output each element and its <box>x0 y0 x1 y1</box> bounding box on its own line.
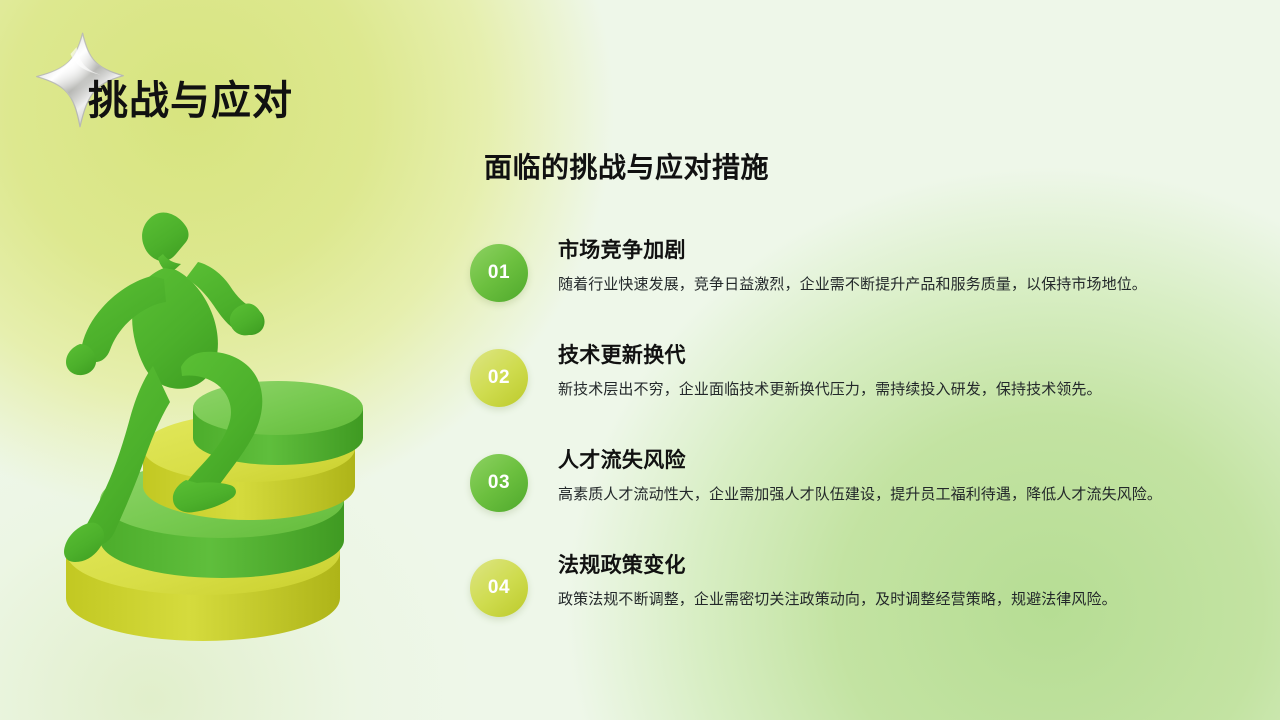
slide-header: 挑战与应对 <box>0 22 520 118</box>
item-number-badge: 03 <box>470 454 528 512</box>
item-title: 法规政策变化 <box>558 549 1117 579</box>
item-description: 新技术层出不穷，企业面临技术更新换代压力，需持续投入研发，保持技术领先。 <box>558 379 1102 401</box>
item-text-block: 法规政策变化 政策法规不断调整，企业需密切关注政策动向，及时调整经营策略，规避法… <box>558 547 1117 611</box>
item-description: 政策法规不断调整，企业需密切关注政策动向，及时调整经营策略，规避法律风险。 <box>558 589 1117 611</box>
list-item: 01 市场竞争加剧 随着行业快速发展，竞争日益激烈，企业需不断提升产品和服务质量… <box>470 232 1250 308</box>
list-item: 04 法规政策变化 政策法规不断调整，企业需密切关注政策动向，及时调整经营策略，… <box>470 547 1250 623</box>
item-title: 市场竞争加剧 <box>558 234 1147 264</box>
challenge-list: 01 市场竞争加剧 随着行业快速发展，竞争日益激烈，企业需不断提升产品和服务质量… <box>470 232 1250 623</box>
list-item: 02 技术更新换代 新技术层出不穷，企业面临技术更新换代压力，需持续投入研发，保… <box>470 337 1250 413</box>
slide-canvas: 挑战与应对 <box>0 0 1280 720</box>
content-panel: 面临的挑战与应对措施 01 市场竞争加剧 随着行业快速发展，竞争日益激烈，企业需… <box>470 146 1250 623</box>
page-title: 挑战与应对 <box>88 68 293 126</box>
item-number-badge: 02 <box>470 349 528 407</box>
item-text-block: 人才流失风险 高素质人才流动性大，企业需加强人才队伍建设，提升员工福利待遇，降低… <box>558 442 1162 506</box>
item-text-block: 技术更新换代 新技术层出不穷，企业面临技术更新换代压力，需持续投入研发，保持技术… <box>558 337 1102 401</box>
list-item: 03 人才流失风险 高素质人才流动性大，企业需加强人才队伍建设，提升员工福利待遇… <box>470 442 1250 518</box>
item-number-badge: 04 <box>470 559 528 617</box>
item-description: 高素质人才流动性大，企业需加强人才队伍建设，提升员工福利待遇，降低人才流失风险。 <box>558 484 1162 506</box>
item-number-badge: 01 <box>470 244 528 302</box>
item-title: 人才流失风险 <box>558 444 1162 474</box>
running-person-climbing-steps-illustration <box>40 180 460 650</box>
item-title: 技术更新换代 <box>558 339 1102 369</box>
content-heading: 面临的挑战与应对措施 <box>484 146 1250 186</box>
item-text-block: 市场竞争加剧 随着行业快速发展，竞争日益激烈，企业需不断提升产品和服务质量，以保… <box>558 232 1147 296</box>
item-description: 随着行业快速发展，竞争日益激烈，企业需不断提升产品和服务质量，以保持市场地位。 <box>558 274 1147 296</box>
